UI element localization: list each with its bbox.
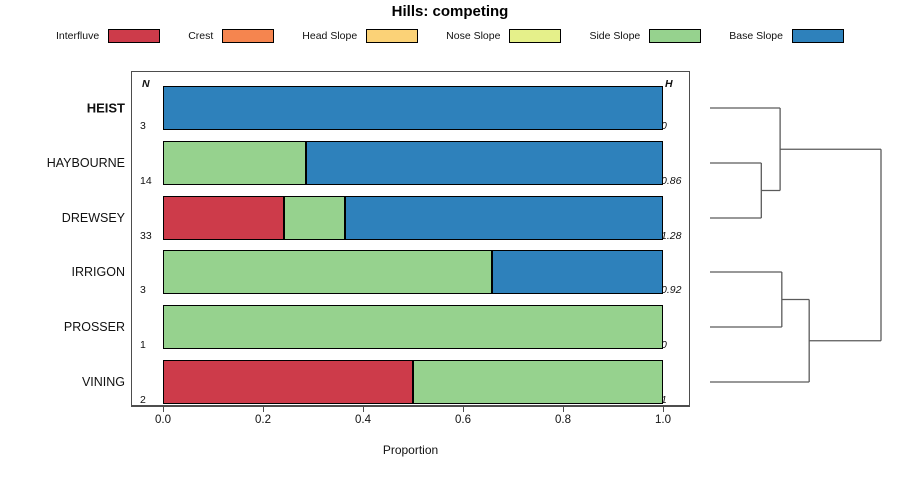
legend-swatch [649, 29, 701, 43]
row-n-value: 3 [140, 284, 146, 296]
dendrogram [690, 71, 900, 406]
stacked-bar [163, 196, 663, 240]
stacked-bar [163, 250, 663, 294]
stacked-bar [163, 141, 663, 185]
row-label-prosser: PROSSER [64, 320, 131, 334]
legend-swatch [108, 29, 160, 43]
legend-item-label: Base Slope [729, 30, 783, 42]
x-tick [363, 407, 364, 412]
x-axis-line [131, 406, 690, 407]
x-tick [663, 407, 664, 412]
row-n-value: 14 [140, 175, 152, 187]
row-label-vining: VINING [82, 375, 131, 389]
x-tick-label: 0.4 [355, 414, 371, 426]
row-n-value: 1 [140, 339, 146, 351]
legend-item-label: Side Slope [589, 30, 640, 42]
stacked-bar [163, 360, 663, 404]
legend-item-label: Nose Slope [446, 30, 500, 42]
row-label-drewsey: DREWSEY [62, 211, 131, 225]
legend-swatch [509, 29, 561, 43]
bar-segment-side-slope [163, 141, 306, 185]
legend-item: Crest [188, 29, 302, 43]
legend-item: Nose Slope [446, 29, 589, 43]
bar-segment-interfluve [163, 196, 284, 240]
row-h-value: 0.86 [661, 175, 681, 187]
stacked-bar [163, 305, 663, 349]
legend-item-label: Interfluve [56, 30, 99, 42]
legend-item: Head Slope [302, 29, 446, 43]
x-tick [163, 407, 164, 412]
bar-segment-base-slope [345, 196, 663, 240]
row-label-irrigon: IRRIGON [72, 265, 131, 279]
n-column-header: N [142, 78, 150, 90]
row-n-value: 33 [140, 230, 152, 242]
row-h-value: 0.92 [661, 284, 681, 296]
h-column-header: H [665, 78, 673, 90]
x-tick-label: 0.0 [155, 414, 171, 426]
legend-item: Interfluve [56, 29, 188, 43]
x-tick-label: 0.2 [255, 414, 271, 426]
stacked-bar [163, 86, 663, 130]
bar-segment-base-slope [306, 141, 664, 185]
bar-segment-side-slope [413, 360, 663, 404]
x-tick-label: 0.6 [455, 414, 471, 426]
x-tick [463, 407, 464, 412]
x-axis-label: Proportion [131, 443, 690, 457]
legend-swatch [222, 29, 274, 43]
bar-segment-interfluve [163, 360, 413, 404]
legend-item: Side Slope [589, 29, 729, 43]
dendrogram-svg [690, 71, 900, 406]
x-tick-label: 0.8 [555, 414, 571, 426]
legend-item-label: Crest [188, 30, 213, 42]
x-tick-label: 1.0 [655, 414, 671, 426]
row-n-value: 2 [140, 394, 146, 406]
row-n-value: 3 [140, 120, 146, 132]
bar-segment-base-slope [492, 250, 663, 294]
legend: InterfluveCrestHead SlopeNose SlopeSide … [0, 26, 900, 46]
bar-segment-base-slope [163, 86, 663, 130]
row-h-value: 1.28 [661, 230, 681, 242]
legend-swatch [366, 29, 418, 43]
bar-segment-side-slope [284, 196, 345, 240]
row-label-heist: HEIST [87, 101, 131, 116]
x-tick [263, 407, 264, 412]
legend-item: Base Slope [729, 29, 844, 43]
row-label-haybourne: HAYBOURNE [47, 156, 131, 170]
chart-title: Hills: competing [0, 3, 900, 20]
bar-segment-side-slope [163, 305, 663, 349]
x-tick [563, 407, 564, 412]
bar-segment-side-slope [163, 250, 492, 294]
legend-swatch [792, 29, 844, 43]
legend-item-label: Head Slope [302, 30, 357, 42]
